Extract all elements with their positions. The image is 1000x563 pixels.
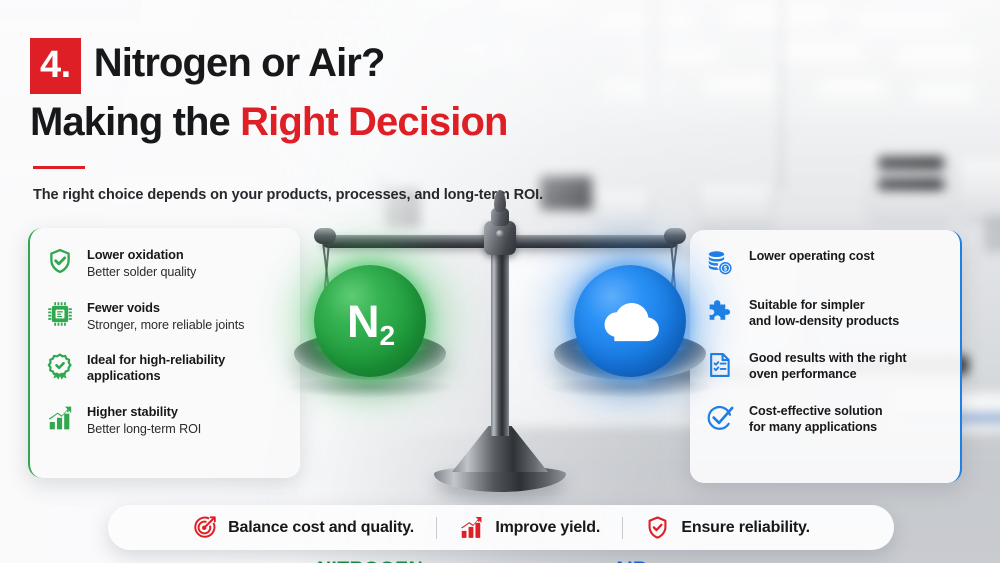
check-circle-icon — [706, 404, 734, 432]
list-item-title: Suitable for simpler — [749, 298, 899, 314]
checklist-document-icon — [706, 351, 734, 379]
infographic-slide: 4. Nitrogen or Air? Making the Right Dec… — [0, 0, 1000, 563]
list-item: Higher stability Better long-term ROI — [46, 403, 284, 438]
section-number-badge: 4. — [30, 38, 81, 94]
list-item-title: Lower oxidation — [87, 247, 196, 263]
page-title-line2-accent: Right Decision — [240, 100, 507, 144]
target-arrow-icon — [192, 515, 217, 540]
nitrogen-symbol-letter: N — [347, 296, 379, 347]
scale-pivot-hub — [484, 221, 516, 255]
scale-finial — [494, 190, 506, 212]
coins-dollar-icon: $ — [706, 249, 734, 277]
list-item-title: Higher stability — [87, 404, 201, 420]
page-title-line2-plain: Making the — [30, 100, 240, 144]
shield-check-icon — [46, 247, 74, 275]
cpu-chip-icon — [46, 300, 74, 328]
list-item-subtitle: Better long-term ROI — [87, 421, 201, 437]
summary-item-reliability: Ensure reliability. — [623, 515, 831, 540]
list-item-title: Cost-effective solution — [749, 404, 882, 420]
list-item-text: Higher stability Better long-term ROI — [87, 403, 201, 438]
nitrogen-label: NITROGEN — [295, 558, 445, 563]
cloud-icon — [597, 288, 663, 354]
puzzle-piece-icon — [706, 298, 734, 326]
list-item-title-line2: oven performance — [749, 367, 907, 383]
summary-item-label: Improve yield. — [495, 519, 600, 537]
bar-chart-arrow-icon — [459, 515, 484, 540]
page-title-line2: Making the Right Decision — [30, 102, 650, 144]
list-item-subtitle: Better solder quality — [87, 264, 196, 280]
summary-item-label: Ensure reliability. — [681, 519, 809, 537]
nitrogen-symbol-subscript: 2 — [379, 320, 394, 351]
list-item: Ideal for high-reliability applications — [46, 351, 284, 385]
list-item: Good results with the right oven perform… — [706, 350, 944, 383]
list-item: Cost-effective solution for many applica… — [706, 403, 944, 436]
air-label: AIR — [555, 558, 705, 563]
scale-column — [491, 250, 509, 436]
award-ribbon-icon — [46, 352, 74, 380]
list-item-subtitle: Stronger, more reliable joints — [87, 317, 244, 333]
list-item-text: Ideal for high-reliability applications — [87, 351, 225, 385]
list-item-text: Lower operating cost — [749, 248, 874, 265]
summary-item-label: Balance cost and quality. — [228, 519, 414, 537]
air-benefits-card: $ Lower operating cost Suitable for simp… — [690, 230, 962, 483]
list-item: $ Lower operating cost — [706, 248, 944, 277]
list-item-text: Lower oxidation Better solder quality — [87, 246, 196, 281]
list-item-title-line2: applications — [87, 368, 225, 384]
bottom-summary-bar: Balance cost and quality. Improve yield. — [108, 505, 894, 550]
list-item-text: Fewer voids Stronger, more reliable join… — [87, 299, 244, 334]
shield-check-icon — [645, 515, 670, 540]
balance-scale-graphic: N2 NITROGEN AIR — [300, 180, 700, 480]
summary-item-yield: Improve yield. — [437, 515, 622, 540]
nitrogen-symbol: N2 — [347, 299, 393, 344]
nitrogen-orb: N2 — [314, 265, 426, 377]
list-item-title: Good results with the right — [749, 351, 907, 367]
list-item-title: Fewer voids — [87, 300, 244, 316]
summary-item-balance: Balance cost and quality. — [170, 515, 436, 540]
air-orb — [574, 265, 686, 377]
scale-beam-cap-left — [314, 228, 336, 244]
list-item-title: Ideal for high-reliability — [87, 352, 225, 368]
list-item: Suitable for simpler and low-density pro… — [706, 297, 944, 330]
title-row: 4. Nitrogen or Air? — [30, 38, 650, 94]
title-underline-rule — [33, 166, 85, 169]
list-item-text: Cost-effective solution for many applica… — [749, 403, 882, 436]
list-item-title: Lower operating cost — [749, 249, 874, 265]
bar-chart-growth-icon — [46, 404, 74, 432]
list-item-title-line2: for many applications — [749, 420, 882, 436]
list-item: Lower oxidation Better solder quality — [46, 246, 284, 281]
page-title-line1: Nitrogen or Air? — [94, 38, 385, 83]
list-item: Fewer voids Stronger, more reliable join… — [46, 299, 284, 334]
list-item-text: Good results with the right oven perform… — [749, 350, 907, 383]
list-item-text: Suitable for simpler and low-density pro… — [749, 297, 899, 330]
list-item-title-line2: and low-density products — [749, 314, 899, 330]
nitrogen-benefits-card: Lower oxidation Better solder quality — [28, 228, 300, 478]
